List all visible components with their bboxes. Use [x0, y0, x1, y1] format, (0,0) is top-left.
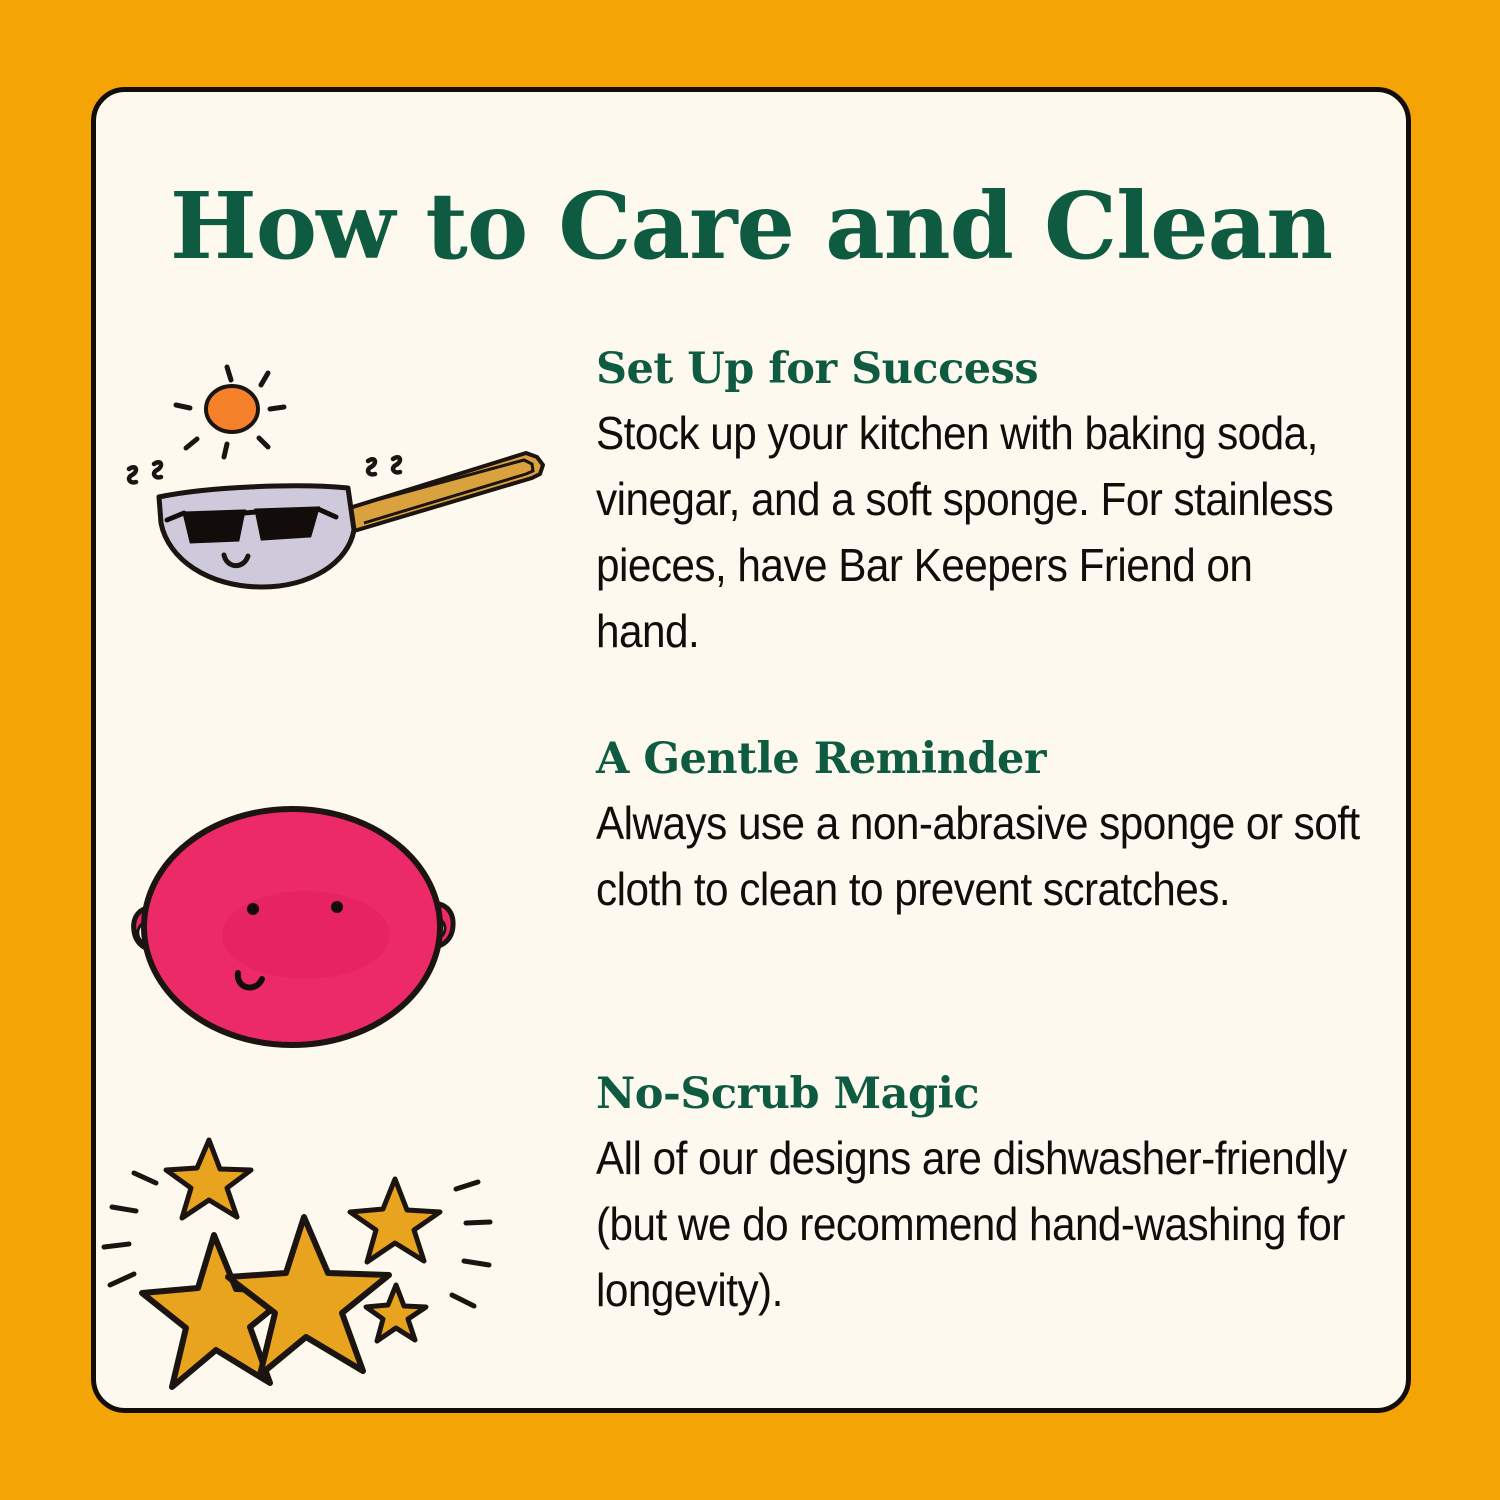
sections-list: Set Up for Success Stock up your kitchen…: [96, 347, 1406, 1402]
star-small-top: [166, 1140, 251, 1218]
info-card: How to Care and Clean: [91, 87, 1411, 1413]
section-row-a-gentle-reminder: A Gentle Reminder Always use a non-abras…: [96, 737, 1406, 1072]
sponge-eye-left: [247, 903, 259, 915]
poster-root: How to Care and Clean: [0, 0, 1500, 1500]
section-body: All of our designs are dishwasher-friend…: [596, 1125, 1365, 1323]
page-title: How to Care and Clean: [96, 180, 1406, 272]
frying-pan-with-sunglasses-icon: [96, 347, 596, 727]
section-text-no-scrub-magic: No-Scrub Magic All of our designs are di…: [596, 1072, 1406, 1323]
section-heading: A Gentle Reminder: [596, 737, 1370, 782]
steam-marks-left: [129, 462, 161, 482]
sparkle-stars-icon: [96, 1127, 596, 1413]
section-row-set-up-for-success: Set Up for Success Stock up your kitchen…: [96, 347, 1406, 737]
steam-marks-right: [368, 457, 400, 474]
illustration-no-scrub-magic: [96, 1072, 596, 1413]
sponge-eye-right: [331, 901, 343, 913]
sun-icon: [176, 367, 284, 457]
star-tiny-right-lower: [366, 1285, 426, 1341]
section-row-no-scrub-magic: No-Scrub Magic All of our designs are di…: [96, 1072, 1406, 1402]
section-body: Always use a non-abrasive sponge or soft…: [596, 790, 1365, 922]
section-text-a-gentle-reminder: A Gentle Reminder Always use a non-abras…: [596, 737, 1406, 922]
section-body: Stock up your kitchen with baking soda, …: [596, 400, 1365, 664]
section-heading: Set Up for Success: [596, 347, 1370, 392]
illustration-a-gentle-reminder: [96, 737, 596, 1087]
pink-sponge-face-icon: [96, 757, 596, 1087]
star-small-right-upper: [350, 1179, 440, 1262]
sparkle-dashes-left: [104, 1173, 156, 1285]
section-text-set-up-for-success: Set Up for Success Stock up your kitchen…: [596, 347, 1406, 664]
illustration-set-up-for-success: [96, 347, 596, 727]
section-heading: No-Scrub Magic: [596, 1072, 1370, 1117]
sparkle-dashes-right: [452, 1182, 490, 1306]
